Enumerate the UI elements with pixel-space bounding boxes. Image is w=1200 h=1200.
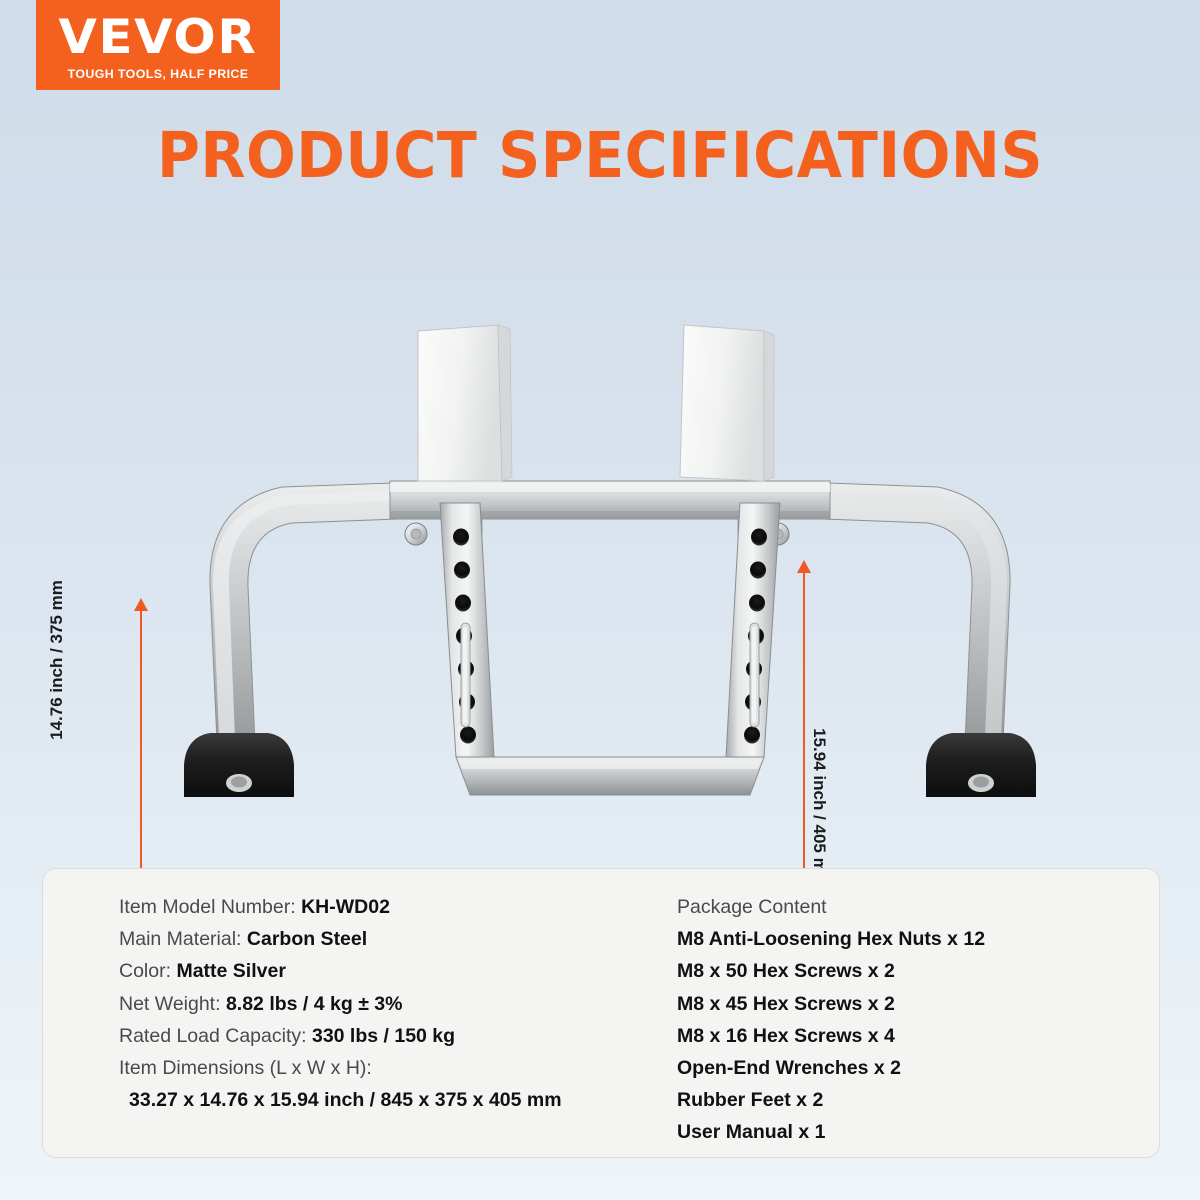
center-ladder-bracket	[440, 503, 780, 795]
specifications-column: Item Model Number: KH-WD02 Main Material…	[43, 869, 663, 1157]
spec-label: Item Model Number:	[119, 896, 296, 918]
vevor-logo: VEVOR TOUGH TOOLS, HALF PRICE	[36, 0, 280, 90]
spec-label: Net Weight:	[119, 993, 221, 1015]
package-item: Open-End Wrenches x 2	[677, 1052, 1159, 1084]
package-item: M8 x 45 Hex Screws x 2	[677, 988, 1159, 1020]
spec-value-item-dimensions: 33.27 x 14.76 x 15.94 inch / 845 x 375 x…	[119, 1084, 663, 1116]
specifications-panel: Item Model Number: KH-WD02 Main Material…	[42, 868, 1160, 1158]
spec-value: 8.82 lbs / 4 kg ± 3%	[226, 993, 403, 1015]
spec-value: Matte Silver	[176, 960, 285, 982]
package-item: Rubber Feet x 2	[677, 1084, 1159, 1116]
spec-value: 330 lbs / 150 kg	[312, 1025, 455, 1047]
spec-row: Main Material: Carbon Steel	[119, 923, 663, 955]
spec-row: Net Weight: 8.82 lbs / 4 kg ± 3%	[119, 988, 663, 1020]
package-content-column: Package Content M8 Anti-Loosening Hex Nu…	[663, 869, 1159, 1157]
spec-label: Item Dimensions (L x W x H):	[119, 1057, 372, 1079]
product-illustration	[150, 285, 1070, 830]
spec-row: Rated Load Capacity: 330 lbs / 150 kg	[119, 1020, 663, 1052]
brand-wordmark: VEVOR	[59, 14, 258, 61]
brand-tagline: TOUGH TOOLS, HALF PRICE	[68, 68, 249, 80]
spec-row: Color: Matte Silver	[119, 955, 663, 987]
spec-value: KH-WD02	[301, 896, 390, 918]
package-item: M8 x 50 Hex Screws x 2	[677, 955, 1159, 987]
dimension-line-height-left	[133, 598, 149, 884]
package-item: M8 x 16 Hex Screws x 4	[677, 1020, 1159, 1052]
package-item: User Manual x 1	[677, 1116, 1159, 1148]
page-title: PRODUCT SPECIFICATIONS	[42, 124, 1158, 187]
spec-label: Main Material:	[119, 928, 241, 950]
outer-frame	[210, 481, 1010, 765]
spec-row-item-dimensions: Item Dimensions (L x W x H):	[119, 1052, 663, 1084]
dimension-label-height-left: 14.76 inch / 375 mm	[47, 565, 67, 755]
spec-value: Carbon Steel	[247, 928, 367, 950]
package-content-title: Package Content	[677, 891, 1159, 923]
package-item: M8 Anti-Loosening Hex Nuts x 12	[677, 923, 1159, 955]
arrow-shaft	[140, 606, 142, 876]
product-diagram: 14.76 inch / 375 mm 15.94 inch / 405 mm …	[0, 250, 1200, 860]
spec-row: Item Model Number: KH-WD02	[119, 891, 663, 923]
spec-label: Color:	[119, 960, 171, 982]
mounting-plates	[418, 325, 774, 481]
spec-label: Rated Load Capacity:	[119, 1025, 307, 1047]
